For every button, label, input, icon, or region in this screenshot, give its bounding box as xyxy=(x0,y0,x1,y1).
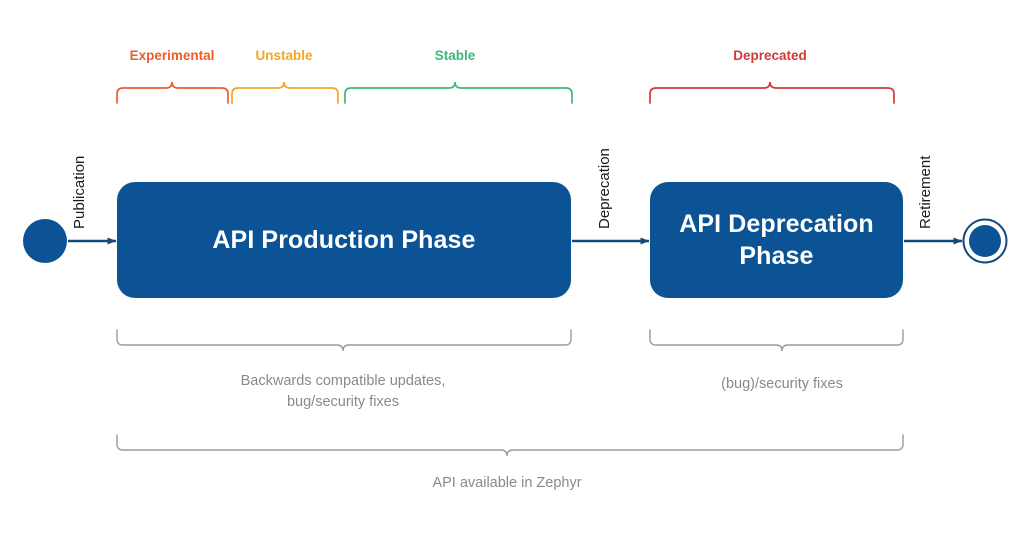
brace-experimental xyxy=(117,82,228,103)
range-label-stable: Stable xyxy=(435,48,476,63)
note-api-availability: API available in Zephyr xyxy=(432,473,581,494)
start-node xyxy=(23,219,67,263)
brace-deprecated xyxy=(650,82,894,103)
note-production-support: Backwards compatible updates, bug/securi… xyxy=(241,371,446,413)
transition-label-publication: Publication xyxy=(71,156,88,229)
range-label-experimental: Experimental xyxy=(130,48,215,63)
brace-unstable xyxy=(232,82,338,103)
phase-box-api-production[interactable]: API Production Phase xyxy=(117,182,571,298)
transition-label-retirement: Retirement xyxy=(917,156,934,229)
note-deprecation-support: (bug)/security fixes xyxy=(721,374,843,395)
stability-braces xyxy=(117,82,894,103)
phase-box-api-deprecation[interactable]: API Deprecation Phase xyxy=(650,182,903,298)
range-label-deprecated: Deprecated xyxy=(733,48,807,63)
brace-production-support xyxy=(117,330,571,351)
api-lifecycle-diagram: Experimental Unstable Stable Deprecated … xyxy=(0,0,1036,537)
brace-stable xyxy=(345,82,572,103)
end-node-ring xyxy=(964,220,1007,263)
brace-api-availability xyxy=(117,435,903,456)
range-label-unstable: Unstable xyxy=(255,48,312,63)
end-node-core xyxy=(969,225,1001,257)
transition-label-deprecation: Deprecation xyxy=(596,148,613,229)
brace-deprecation-support xyxy=(650,330,903,351)
